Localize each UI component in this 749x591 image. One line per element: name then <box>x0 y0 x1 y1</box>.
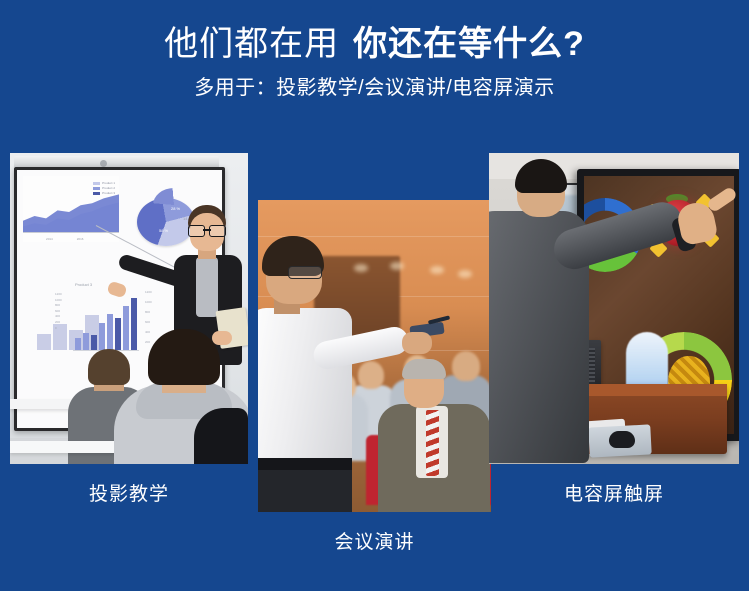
student-head <box>148 329 220 385</box>
bar <box>37 334 51 350</box>
bar <box>83 333 89 350</box>
area-chart-tick: 2014 <box>46 237 53 241</box>
conference-speaker-figure <box>258 236 382 512</box>
classroom-scene: 2014 2016 Product 1 Product 2 Product 3 … <box>10 153 248 464</box>
legend-item: Product 3 <box>93 191 115 196</box>
page-title: 他们都在用你还在等什么? <box>0 0 749 64</box>
promo-poster: 他们都在用你还在等什么? 多用于：投影教学/会议演讲/电容屏演示 2014 20… <box>0 0 749 591</box>
area-chart-tick: 2016 <box>77 237 84 241</box>
caption-conference: 会议演讲 <box>258 531 491 555</box>
whiteboard-knob <box>100 160 107 167</box>
bar <box>91 335 97 350</box>
caption-touchscreen: 电容屏触屏 <box>489 483 739 507</box>
conference-scene <box>258 200 491 512</box>
bar <box>107 314 113 350</box>
touchscreen-scene <box>489 153 739 464</box>
presenter-glasses-icon <box>188 225 226 235</box>
photo-panel-touchscreen <box>489 153 739 464</box>
ceiling-light <box>390 262 404 270</box>
photo-panel-classroom: 2014 2016 Product 1 Product 2 Product 3 … <box>10 153 248 464</box>
bar <box>99 323 105 350</box>
title-bold-part: 你还在等什么? <box>353 25 585 63</box>
title-light-part: 他们都在用 <box>164 25 339 63</box>
touchscreen-user-figure <box>489 159 629 464</box>
ceiling-light <box>458 270 472 278</box>
area-chart-series-1 <box>23 192 119 232</box>
bar-chart-y-labels: 1200 1000 800 600 400 200 0 <box>55 292 73 331</box>
poster-header: 他们都在用你还在等什么? 多用于：投影教学/会议演讲/电容屏演示 <box>0 0 749 101</box>
whiteboard-top-rail <box>14 156 219 167</box>
caption-classroom: 投影教学 <box>10 483 248 507</box>
attendee-striped-tie <box>426 410 439 476</box>
page-subtitle: 多用于：投影教学/会议演讲/电容屏演示 <box>0 64 749 101</box>
y-tick: 0 <box>55 326 73 332</box>
front-row-attendee <box>376 362 491 512</box>
user-hair <box>515 159 567 193</box>
line-chart-label: 800 <box>145 310 150 314</box>
area-chart-legend: Product 1 Product 2 Product 3 <box>93 181 115 196</box>
area-chart-x-axis <box>23 232 119 233</box>
photo-panel-conference <box>258 200 491 512</box>
line-chart-label: 1000 <box>145 300 152 304</box>
presenter-shirt <box>196 257 218 317</box>
classroom-chair <box>194 408 248 464</box>
speaker-glasses-icon <box>288 266 322 279</box>
ceiling-light <box>430 266 444 274</box>
speaker-shirt <box>258 308 352 466</box>
attendee-hair <box>402 359 446 379</box>
line-chart-label: 600 <box>145 320 150 324</box>
line-chart-label: 1200 <box>145 290 152 294</box>
speaker-hand <box>402 332 432 354</box>
area-chart: 2014 2016 Product 1 Product 2 Product 3 <box>23 176 119 242</box>
speaker-trousers <box>258 470 352 512</box>
secondary-bar-chart <box>15 288 49 358</box>
bar-chart-title: Product 3 <box>75 282 92 287</box>
